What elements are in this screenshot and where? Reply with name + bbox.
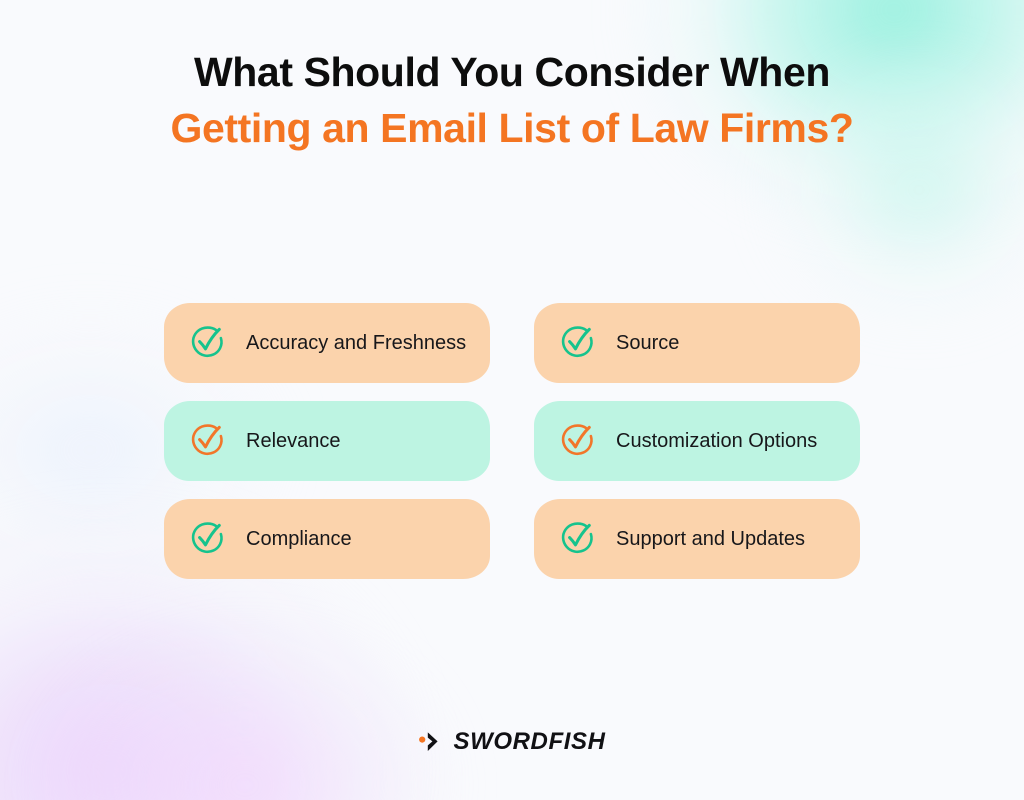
swordfish-logo[interactable]: SWORDFISH — [0, 728, 1024, 756]
card-row-2: Relevance Customization Options — [164, 401, 860, 481]
check-circle-icon — [556, 419, 600, 463]
check-circle-icon — [556, 321, 600, 365]
page-title-line-1: What Should You Consider When — [0, 44, 1024, 100]
card-label: Accuracy and Freshness — [246, 331, 466, 356]
card-compliance[interactable]: Compliance — [164, 499, 490, 579]
logo-wordmark: SWORDFISH — [453, 728, 605, 756]
card-label: Relevance — [246, 429, 341, 454]
infographic-canvas: What Should You Consider When Getting an… — [0, 0, 1024, 800]
card-row-1: Accuracy and Freshness Source — [164, 303, 860, 383]
card-label: Customization Options — [616, 429, 817, 454]
page-title-line-2: Getting an Email List of Law Firms? — [0, 100, 1024, 156]
card-row-3: Compliance Support and Updates — [164, 499, 860, 579]
card-label: Compliance — [246, 527, 352, 552]
check-circle-icon — [186, 419, 230, 463]
card-label: Support and Updates — [616, 527, 805, 552]
check-circle-icon — [556, 517, 600, 561]
check-circle-icon — [186, 321, 230, 365]
card-label: Source — [616, 331, 679, 356]
card-support-and-updates[interactable]: Support and Updates — [534, 499, 860, 579]
card-customization-options[interactable]: Customization Options — [534, 401, 860, 481]
card-accuracy-and-freshness[interactable]: Accuracy and Freshness — [164, 303, 490, 383]
page-title: What Should You Consider When Getting an… — [0, 44, 1024, 156]
card-relevance[interactable]: Relevance — [164, 401, 490, 481]
considerations-list: Accuracy and Freshness Source Relevance — [164, 303, 860, 579]
card-source[interactable]: Source — [534, 303, 860, 383]
chevron-dot-icon — [418, 730, 444, 754]
check-circle-icon — [186, 517, 230, 561]
background-glow-purple-2 — [30, 620, 460, 800]
